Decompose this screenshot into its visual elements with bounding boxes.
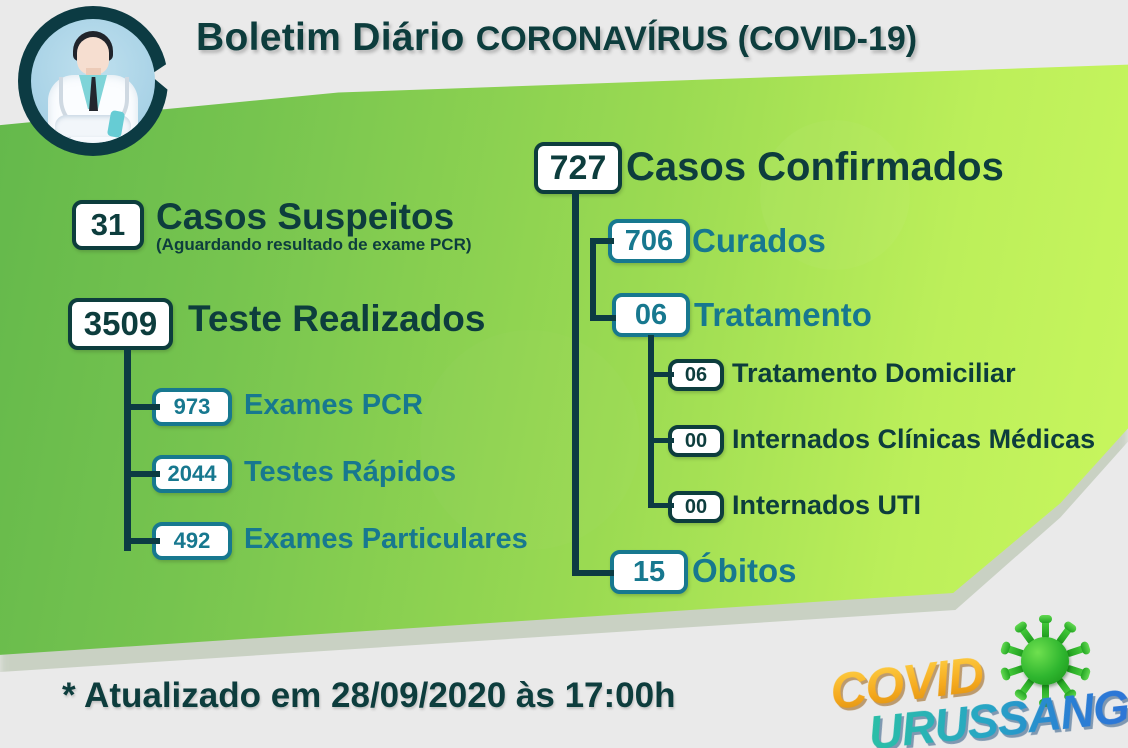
infographic-canvas: Boletim Diário CORONAVÍRUS (COVID-19) 31…	[0, 0, 1128, 748]
stat-label-internados-clinicas-medicas: Internados Clínicas Médicas	[732, 424, 1095, 455]
connector-branch-curados	[590, 238, 614, 244]
connector-branch-particulares	[124, 538, 160, 544]
stat-value-tratamento-domiciliar: 06	[668, 359, 724, 391]
connector-branch-obitos	[572, 570, 614, 576]
stat-sublabel-casos-suspeitos: (Aguardando resultado de exame PCR)	[156, 235, 472, 255]
covid-urussanga-logo: COVID URUSSANGA	[820, 612, 1120, 742]
stat-value-obitos: 15	[610, 550, 688, 594]
connector-trunk-testes	[124, 348, 131, 551]
connector-branch-uti	[648, 503, 674, 508]
stat-value-curados: 706	[608, 219, 690, 263]
stat-value-casos-confirmados: 727	[534, 142, 622, 194]
updated-timestamp: * Atualizado em 28/09/2020 às 17:00h	[62, 676, 675, 716]
connector-branch-clinicas	[648, 438, 674, 443]
stat-value-exames-particulares: 492	[152, 522, 232, 560]
stat-value-exames-pcr: 973	[152, 388, 232, 426]
stat-value-tratamento: 06	[612, 293, 690, 337]
connector-branch-tratamento	[590, 315, 616, 321]
stat-label-internados-uti: Internados UTI	[732, 490, 921, 521]
stat-value-internados-uti: 00	[668, 491, 724, 523]
connector-trunk-tratamento-children	[648, 335, 654, 508]
stat-value-testes-rapidos: 2044	[152, 455, 232, 493]
connector-branch-domiciliar	[648, 372, 674, 377]
stat-label-curados: Curados	[692, 222, 826, 260]
stat-label-casos-confirmados: Casos Confirmados	[626, 145, 1004, 190]
connector-trunk-confirmados	[572, 192, 579, 576]
stat-label-obitos: Óbitos	[692, 552, 797, 590]
stat-label-exames-particulares: Exames Particulares	[244, 523, 528, 556]
connector-trunk-curados-tratamento	[590, 238, 596, 321]
stat-value-teste-realizados: 3509	[68, 298, 173, 350]
stat-label-casos-suspeitos: Casos Suspeitos	[156, 196, 454, 238]
connector-branch-rapidos	[124, 471, 160, 477]
stat-label-teste-realizados: Teste Realizados	[188, 298, 485, 340]
stat-label-tratamento: Tratamento	[694, 296, 872, 334]
stat-label-testes-rapidos: Testes Rápidos	[244, 456, 456, 489]
stat-value-casos-suspeitos: 31	[72, 200, 144, 250]
stat-label-tratamento-domiciliar: Tratamento Domiciliar	[732, 358, 1016, 389]
connector-branch-pcr	[124, 404, 160, 410]
stat-value-internados-clinicas-medicas: 00	[668, 425, 724, 457]
stat-label-exames-pcr: Exames PCR	[244, 389, 423, 422]
